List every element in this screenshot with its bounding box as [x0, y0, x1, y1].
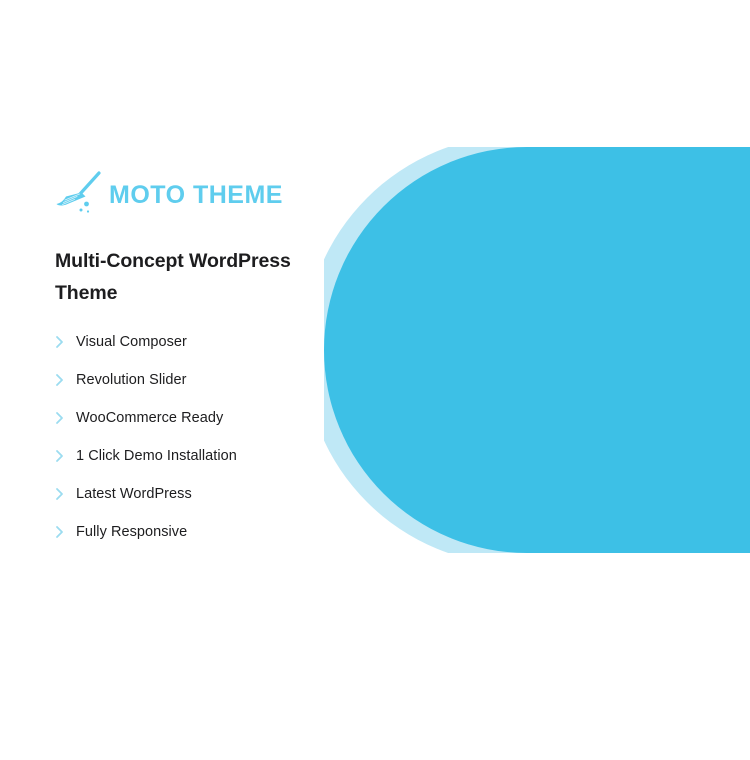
chevron-right-icon — [55, 487, 65, 501]
list-item: Fully Responsive — [55, 513, 340, 551]
feature-label: Latest WordPress — [76, 487, 192, 502]
list-item: Latest WordPress — [55, 475, 340, 513]
brand-logo[interactable]: MOTO THEME — [55, 168, 340, 222]
list-item: Revolution Slider — [55, 361, 340, 399]
feature-label: WooCommerce Ready — [76, 411, 223, 426]
feature-label: Revolution Slider — [76, 373, 186, 388]
chevron-right-icon — [55, 525, 65, 539]
broom-icon — [55, 171, 105, 219]
feature-label: Visual Composer — [76, 335, 187, 350]
chevron-right-icon — [55, 373, 65, 387]
brand-wordmark: MOTO THEME — [109, 183, 283, 208]
chevron-right-icon — [55, 449, 65, 463]
blue-accent-panel — [324, 147, 750, 553]
feature-list: Visual Composer Revolution Slider WooCom… — [55, 323, 340, 551]
promo-banner: Home About Services Pages Blog Shop Cont… — [0, 0, 750, 760]
list-item: 1 Click Demo Installation — [55, 437, 340, 475]
left-content-column: MOTO THEME Multi-Concept WordPress Theme… — [55, 168, 340, 551]
chevron-right-icon — [55, 411, 65, 425]
blue-panel-fill — [324, 147, 750, 553]
page-title: Multi-Concept WordPress Theme — [55, 246, 317, 309]
chevron-right-icon — [55, 335, 65, 349]
feature-label: Fully Responsive — [76, 525, 187, 540]
list-item: Visual Composer — [55, 323, 340, 361]
feature-label: 1 Click Demo Installation — [76, 449, 237, 464]
list-item: WooCommerce Ready — [55, 399, 340, 437]
